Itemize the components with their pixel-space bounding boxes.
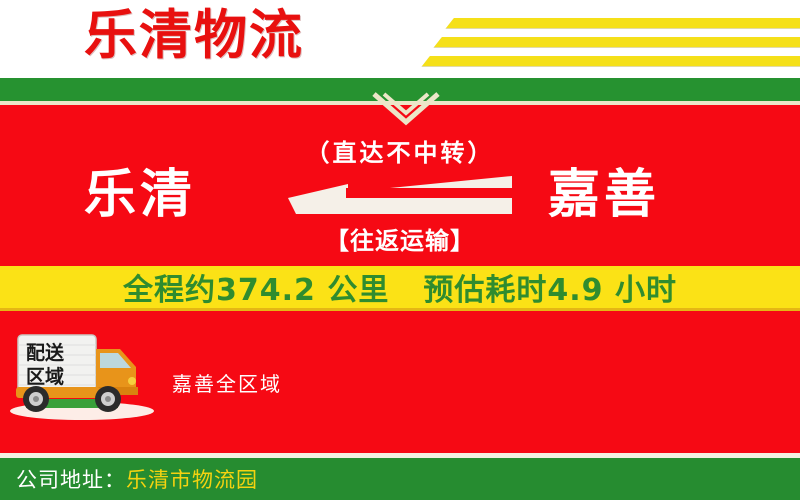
stripe-3 <box>422 56 800 66</box>
roundtrip-label: 【往返运输】 <box>0 221 800 256</box>
distance-text: 全程约374.2 公里 <box>123 265 389 309</box>
bidirectional-arrow-icon <box>288 176 512 220</box>
stripe-1 <box>446 18 800 28</box>
address-value: 乐清市物流园 <box>126 464 258 494</box>
coverage-area-text: 嘉善全区域 <box>172 368 282 397</box>
truck-box-text-line2: 区域 <box>26 365 64 388</box>
green-divider-band <box>0 78 800 101</box>
direct-shipping-label: （直达不中转） <box>0 133 800 168</box>
truck-box-text-line1: 配送 <box>26 341 65 364</box>
logistics-banner: 乐清物流 （直达不中转） 乐清 嘉善 【往返运输】 全程约374.2 公里 <box>0 0 800 500</box>
address-label: 公司地址： <box>16 464 126 494</box>
company-address-row: 公司地址： 乐清市物流园 <box>16 458 258 500</box>
company-logo-text: 乐清物流 <box>84 4 304 68</box>
duration-text: 预估耗时4.9 小时 <box>423 265 677 309</box>
decorative-stripes <box>420 12 800 68</box>
origin-city: 乐清 <box>84 165 196 225</box>
stripe-2 <box>434 37 800 47</box>
destination-city: 嘉善 <box>548 165 660 225</box>
header-bar: 乐清物流 <box>0 0 800 78</box>
trip-info-banner: 全程约374.2 公里 预估耗时4.9 小时 <box>0 266 800 311</box>
delivery-truck-icon: 配送 区域 <box>8 325 158 425</box>
